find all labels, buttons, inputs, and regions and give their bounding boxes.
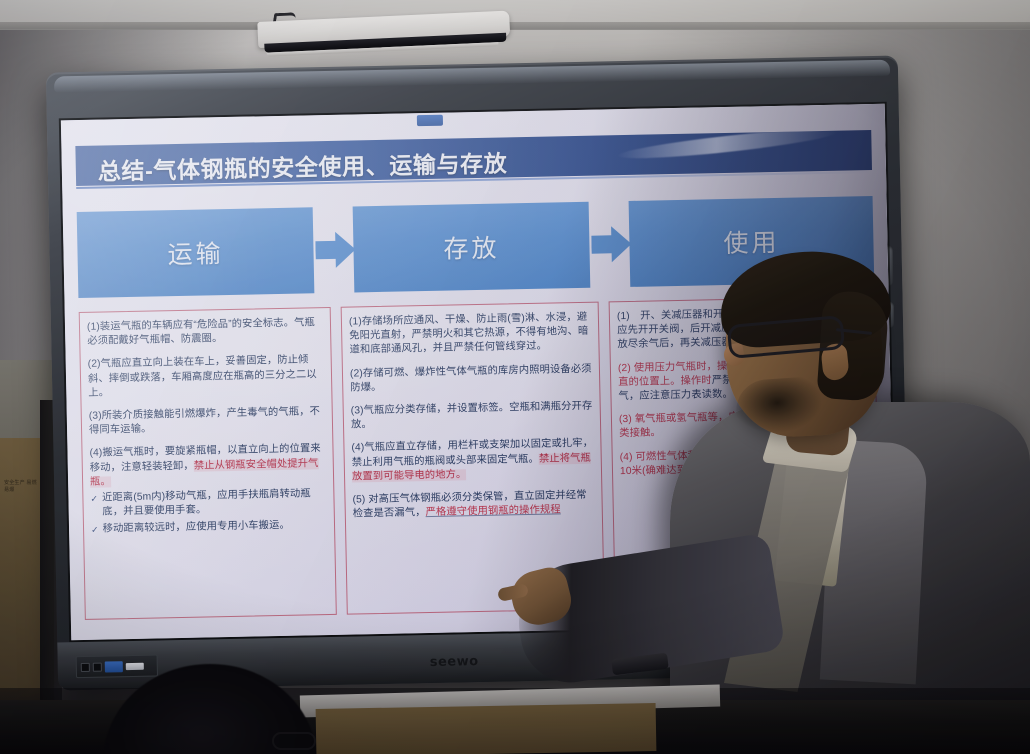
flow-step-storage[interactable]: 存放 <box>353 202 591 293</box>
paragraph-emphasis: 严格遵守使用钢瓶的操作规程 <box>425 505 560 519</box>
audience-glasses-icon <box>272 732 316 750</box>
paragraph: (5) 对高压气体钢瓶必须分类保管，直立固定并经常检查是否漏气，严格遵守使用钢瓶… <box>352 489 595 522</box>
io-port-icon[interactable] <box>81 662 90 671</box>
usb-port-icon[interactable] <box>105 661 123 672</box>
paragraph: (2)气瓶应直立向上装在车上，妥善固定，防止倾斜、摔倒或跌落，车厢高度应在瓶高的… <box>88 354 325 401</box>
screen-toolbar-chip[interactable] <box>417 115 443 127</box>
paragraph: (1)装运气瓶的车辆应有“危险品”的安全标志。气瓶必须配戴好气瓶帽、防震圈。 <box>87 316 324 349</box>
storage-text: (1)存储场所应通风、干燥、防止雨(雪)淋、水浸，避免阳光直射，严禁明火和其它热… <box>349 311 595 522</box>
cardboard-box-label: 安全生产 易燃易爆 <box>4 480 38 494</box>
paragraph: (2)存储可燃、爆炸性气体气瓶的库房内照明设备必须防爆。 <box>350 362 593 395</box>
paragraph: (3)所装介质接触能引燃爆炸，产生毒气的气瓶，不得同车运输。 <box>89 405 326 438</box>
bullet-text: 移动距离较远时，应使用专用小车搬运。 <box>103 518 328 537</box>
slide-title-bar: 总结-气体钢瓶的安全使用、运输与存放 <box>75 130 872 186</box>
bullet-item: ✓ 近距离(5m内)移动气瓶，应用手扶瓶肩转动瓶底，并且要使用手套。 <box>90 487 327 520</box>
check-icon: ✓ <box>90 492 98 506</box>
usb-port-icon[interactable] <box>126 662 144 669</box>
paragraph: (4)搬运气瓶时，要旋紧瓶帽，以直立向上的位置来移动，注意轻装轻卸，禁止从钢瓶安… <box>89 442 326 489</box>
ceiling-rail <box>0 22 1030 29</box>
content-box-transport: (1)装运气瓶的车辆应有“危险品”的安全标志。气瓶必须配戴好气瓶帽、防震圈。 (… <box>79 307 337 620</box>
transport-text: (1)装运气瓶的车辆应有“危险品”的安全标志。气瓶必须配戴好气瓶帽、防震圈。 (… <box>87 316 327 537</box>
paragraph: (4)气瓶应直立存储，用栏杆或支架加以固定或扎牢，禁止利用气瓶的瓶阀或头部来固定… <box>351 437 594 484</box>
title-swoosh-decoration <box>617 130 837 164</box>
io-port-icon[interactable] <box>93 662 102 671</box>
flow-step-transport[interactable]: 运输 <box>77 207 315 298</box>
paragraph: (1)存储场所应通风、干燥、防止雨(雪)淋、水浸，避免阳光直射，严禁明火和其它热… <box>349 311 592 358</box>
flow-arrow-icon-1 <box>315 229 356 270</box>
flow-step-label: 存放 <box>443 229 500 266</box>
flow-arrow-icon-2 <box>591 224 632 265</box>
flow-step-label: 运输 <box>167 234 224 271</box>
panel-brand-logo: seewo <box>430 654 479 670</box>
front-io-panel[interactable] <box>76 654 158 678</box>
desk-front <box>316 703 657 754</box>
photo-scene: 安全生产 易燃易爆 总结-气体钢瓶的安全使用、运输与存放 运输 <box>0 0 1030 754</box>
paragraph: (3)气瓶应分类存储，并设置标签。空瓶和满瓶分开存放。 <box>351 400 594 433</box>
bullet-item: ✓ 移动距离较远时，应使用专用小车搬运。 <box>91 518 327 537</box>
check-icon: ✓ <box>91 523 99 537</box>
bullet-text: 近距离(5m内)移动气瓶，应用手扶瓶肩转动瓶底，并且要使用手套。 <box>102 487 327 520</box>
presenter <box>640 252 1030 754</box>
